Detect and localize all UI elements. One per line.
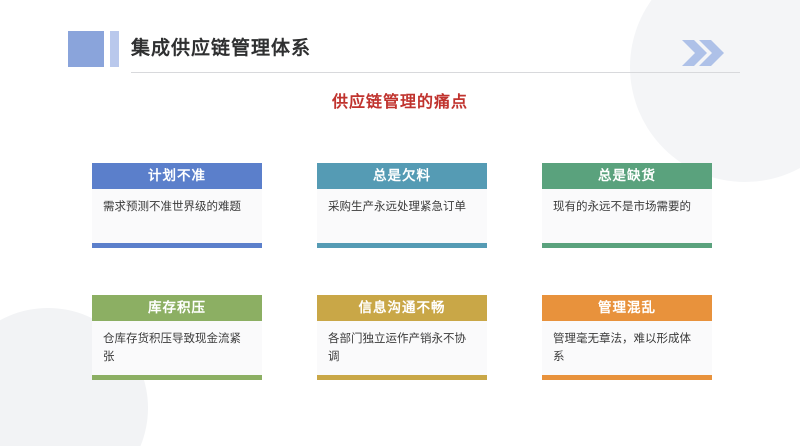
card-row-2: 库存积压 仓库存货积压导致现金流紧张 信息沟通不畅 各部门独立运作产销永不协调 … <box>92 295 712 380</box>
pain-point-card[interactable]: 总是缺货 现有的永远不是市场需要的 <box>542 163 712 248</box>
card-title: 信息沟通不畅 <box>317 295 487 321</box>
card-body-text: 管理毫无章法，难以形成体系 <box>542 321 712 375</box>
card-body-text: 各部门独立运作产销永不协调 <box>317 321 487 375</box>
header-divider <box>131 72 740 73</box>
pain-point-card[interactable]: 信息沟通不畅 各部门独立运作产销永不协调 <box>317 295 487 380</box>
pain-point-card[interactable]: 库存积压 仓库存货积压导致现金流紧张 <box>92 295 262 380</box>
header-accent-block-small <box>110 31 119 67</box>
card-body-text: 需求预测不准世界级的难题 <box>92 189 262 243</box>
card-title: 计划不准 <box>92 163 262 189</box>
card-accent-bar <box>317 243 487 248</box>
card-title: 库存积压 <box>92 295 262 321</box>
pain-point-card-grid: 计划不准 需求预测不准世界级的难题 总是欠料 采购生产永远处理紧急订单 总是缺货… <box>92 163 712 380</box>
pain-point-card[interactable]: 计划不准 需求预测不准世界级的难题 <box>92 163 262 248</box>
pain-point-card[interactable]: 总是欠料 采购生产永远处理紧急订单 <box>317 163 487 248</box>
card-accent-bar <box>92 375 262 380</box>
slide-header: 集成供应链管理体系 <box>0 0 800 78</box>
card-body-text: 仓库存货积压导致现金流紧张 <box>92 321 262 375</box>
card-accent-bar <box>542 375 712 380</box>
card-accent-bar <box>317 375 487 380</box>
slide-canvas: 集成供应链管理体系 供应链管理的痛点 计划不准 需求预测不准世界级的难题 总是欠… <box>0 0 800 446</box>
card-accent-bar <box>542 243 712 248</box>
page-title: 集成供应链管理体系 <box>131 33 311 60</box>
pain-point-card[interactable]: 管理混乱 管理毫无章法，难以形成体系 <box>542 295 712 380</box>
card-body-text: 采购生产永远处理紧急订单 <box>317 189 487 243</box>
card-title: 总是缺货 <box>542 163 712 189</box>
header-accent-block-large <box>68 31 104 67</box>
card-row-1: 计划不准 需求预测不准世界级的难题 总是欠料 采购生产永远处理紧急订单 总是缺货… <box>92 163 712 248</box>
section-subtitle: 供应链管理的痛点 <box>0 88 800 112</box>
card-title: 总是欠料 <box>317 163 487 189</box>
card-accent-bar <box>92 243 262 248</box>
card-title: 管理混乱 <box>542 295 712 321</box>
card-body-text: 现有的永远不是市场需要的 <box>542 189 712 243</box>
